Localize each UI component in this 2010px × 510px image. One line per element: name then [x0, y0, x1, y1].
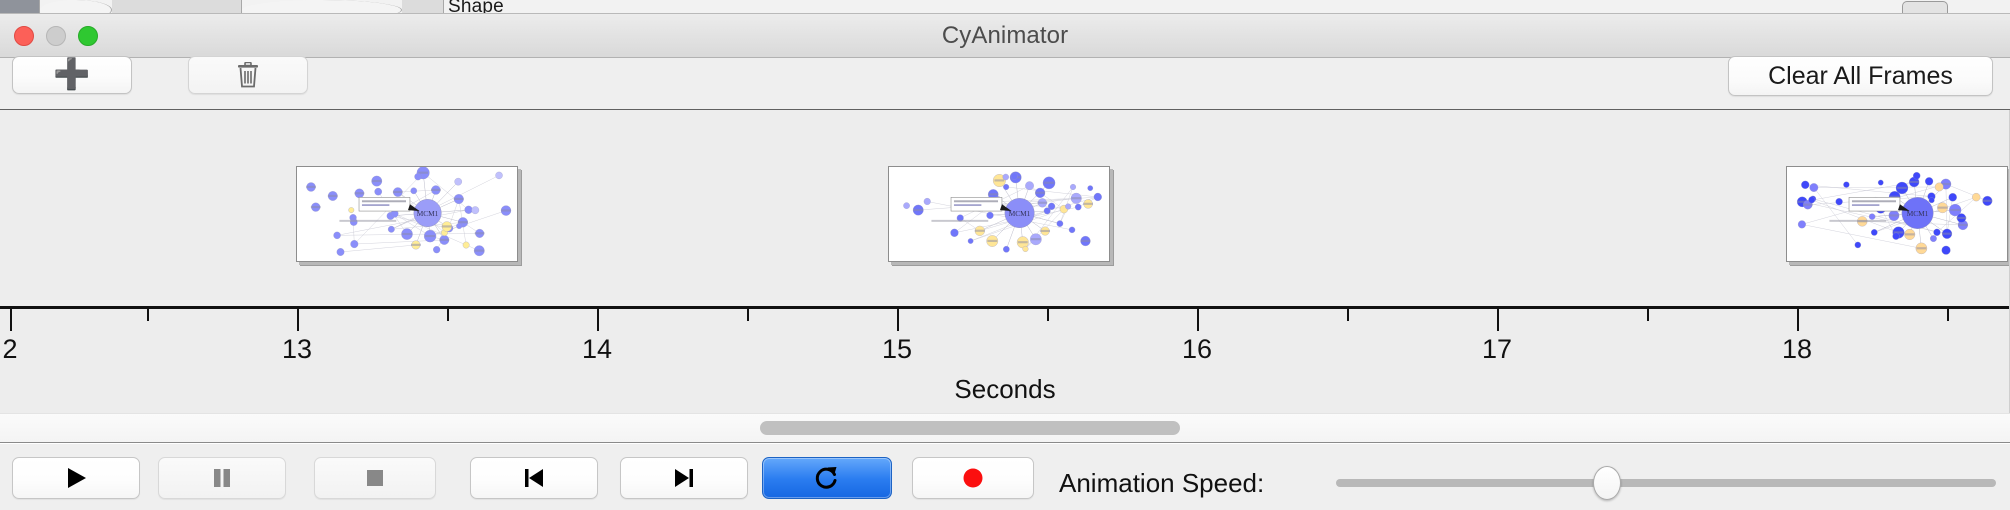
slider-thumb[interactable]	[1593, 466, 1621, 500]
stop-button[interactable]	[314, 457, 436, 499]
play-button[interactable]	[12, 457, 140, 499]
ruler-tick-major	[1797, 309, 1799, 331]
pause-icon	[209, 465, 235, 491]
stop-icon	[362, 465, 388, 491]
bg-chunk	[0, 0, 40, 14]
ruler-tick-label: 13	[282, 334, 312, 365]
add-frame-button[interactable]: ➕	[12, 56, 132, 94]
svg-text:MCM1: MCM1	[1907, 209, 1929, 218]
ruler-tick-label: 18	[1782, 334, 1812, 365]
animation-speed-slider[interactable]	[1336, 479, 1996, 487]
frame-inner: MCM1	[1787, 167, 2007, 261]
ruler-tick-label: 15	[882, 334, 912, 365]
ruler-tick-minor	[1647, 309, 1649, 321]
timeline-frame-thumbnail[interactable]: MCM1	[1786, 166, 2008, 262]
ruler-tick-label: 2	[2, 334, 17, 365]
axis-label-seconds: Seconds	[0, 374, 2010, 405]
pause-button[interactable]	[158, 457, 286, 499]
record-icon	[960, 465, 986, 491]
zoom-button[interactable]	[78, 26, 98, 46]
ruler-baseline	[0, 306, 2010, 309]
previous-frame-button[interactable]	[470, 457, 598, 499]
skip-forward-icon	[671, 465, 697, 491]
frame-inner: MCM1	[297, 167, 517, 261]
skip-back-icon	[521, 465, 547, 491]
ruler-tick-major	[297, 309, 299, 331]
animation-speed-label: Animation Speed:	[1059, 468, 1264, 499]
network-thumbnail: MCM1	[297, 167, 517, 261]
ruler-tick-minor	[1047, 309, 1049, 321]
ruler-tick-major	[1197, 309, 1199, 331]
ruler-tick-minor	[747, 309, 749, 321]
frame-inner: MCM1	[889, 167, 1109, 261]
slider-track[interactable]	[1336, 479, 1996, 487]
ruler-tick-major	[897, 309, 899, 331]
timeline-frame-thumbnail[interactable]: MCM1	[296, 166, 518, 262]
timeline-ruler: 2131415161718 Seconds	[0, 306, 2010, 413]
timeline-scrollbar[interactable]	[0, 413, 2010, 443]
ruler-tick-minor	[1347, 309, 1349, 321]
ruler-tick-minor	[1947, 309, 1949, 321]
loop-icon	[813, 464, 841, 492]
ruler-tick-label: 14	[582, 334, 612, 365]
playback-control-bar: Animation Speed:	[0, 444, 2010, 510]
bg-chunk	[112, 0, 242, 14]
bg-chunk	[242, 0, 402, 14]
timeline-panel[interactable]: MCM1 MCM1 MCM1 2131415161718 Seconds	[0, 110, 2010, 413]
traffic-lights	[14, 26, 98, 46]
timeline-frame-thumbnail[interactable]: MCM1	[888, 166, 1110, 262]
minimize-button[interactable]	[46, 26, 66, 46]
ruler-tick-minor	[447, 309, 449, 321]
scrollbar-thumb[interactable]	[760, 421, 1180, 435]
background-window-strip: Shape	[0, 0, 2010, 14]
next-frame-button[interactable]	[620, 457, 748, 499]
page-title: CyAnimator	[942, 22, 1068, 50]
bg-chunk	[40, 0, 112, 14]
title-bar: CyAnimator	[0, 14, 2010, 58]
play-icon	[63, 465, 89, 491]
background-window-text: Shape	[448, 0, 504, 14]
trash-icon	[236, 62, 260, 88]
bg-chunk	[402, 0, 444, 14]
ruler-tick-major	[1497, 309, 1499, 331]
close-button[interactable]	[14, 26, 34, 46]
loop-button[interactable]	[762, 457, 892, 499]
svg-text:MCM1: MCM1	[1009, 209, 1031, 218]
ruler-tick-label: 16	[1182, 334, 1212, 365]
ruler-tick-major	[597, 309, 599, 331]
cyanimator-window: Shape CyAnimator ➕ Clear All Frames MCM1…	[0, 0, 2010, 510]
plus-icon: ➕	[53, 60, 90, 90]
clear-all-frames-button[interactable]: Clear All Frames	[1728, 56, 1993, 96]
bg-rounded-tab	[1902, 1, 1948, 14]
ruler-tick-major	[10, 309, 12, 331]
record-button[interactable]	[912, 457, 1034, 499]
network-thumbnail: MCM1	[889, 167, 1109, 261]
svg-text:MCM1: MCM1	[417, 209, 439, 218]
ruler-tick-label: 17	[1482, 334, 1512, 365]
network-thumbnail: MCM1	[1787, 167, 2007, 261]
ruler-tick-minor	[147, 309, 149, 321]
delete-frame-button[interactable]	[188, 56, 308, 94]
